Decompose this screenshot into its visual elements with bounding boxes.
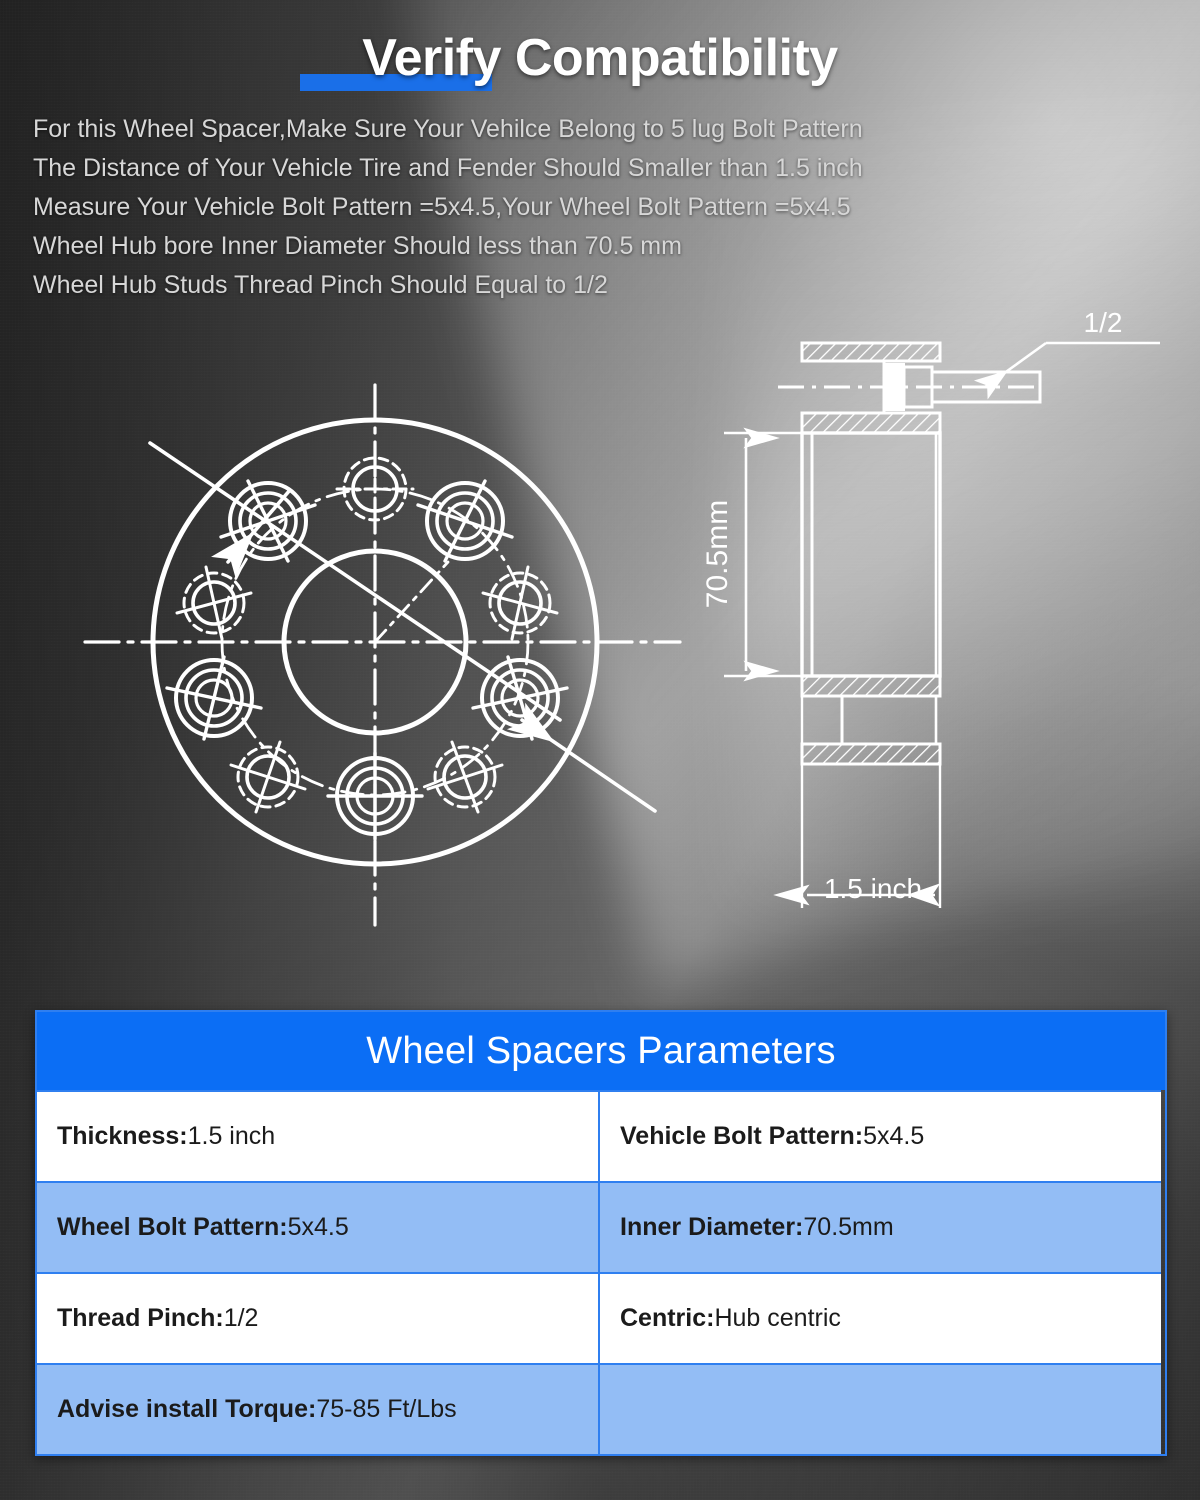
cell-value: 70.5mm (803, 1213, 893, 1242)
table-row: Wheel Bolt Pattern:5x4.5 Inner Diameter:… (37, 1181, 1165, 1272)
table-row: Advise install Torque: 75-85 Ft/Lbs (37, 1363, 1165, 1454)
cell-key: Thickness: (57, 1122, 188, 1151)
table-cell-centric: Centric:Hub centric (600, 1272, 1161, 1363)
title-wrapper: Verify Compatibility (0, 0, 1200, 86)
spec-line: Measure Your Vehicle Bolt Pattern =5x4.5… (33, 188, 1033, 227)
bolt-hole (177, 567, 251, 639)
table-row: Thread Pinch:1/2 Centric:Hub centric (37, 1272, 1165, 1363)
header-section: Verify Compatibility For this Wheel Spac… (0, 0, 1200, 86)
dimension-label-inner-diameter: 70.5mm (701, 500, 734, 608)
cell-value: 1.5 inch (188, 1122, 276, 1151)
cell-key: Vehicle Bolt Pattern: (620, 1122, 863, 1151)
spacer-body-outline (802, 433, 940, 676)
table-header: Wheel Spacers Parameters (37, 1012, 1165, 1090)
table-title: Wheel Spacers Parameters (366, 1030, 835, 1073)
lower-flange-hatch-top (802, 676, 940, 696)
bolt-hole (337, 451, 413, 527)
cell-key: Wheel Bolt Pattern: (57, 1213, 288, 1242)
lower-flange-hatch-bottom (802, 744, 940, 764)
upper-flange-hatch-top (802, 343, 940, 361)
drawing-canvas: 70.5mm 1.5 inch 1/2 (0, 300, 1200, 980)
dimension-label-thickness: 1.5 inch (824, 873, 922, 904)
table-cell-thread-pinch: Thread Pinch:1/2 (37, 1272, 600, 1363)
spec-line: For this Wheel Spacer,Make Sure Your Veh… (33, 110, 1033, 149)
table-cell-empty (600, 1363, 1161, 1454)
lower-bore-cavity (842, 696, 936, 744)
stud-head (884, 364, 904, 410)
cell-value: 5x4.5 (288, 1213, 349, 1242)
cell-key: Thread Pinch: (57, 1304, 224, 1333)
spec-line: Wheel Hub Studs Thread Pinch Should Equa… (33, 266, 1033, 305)
bolt-hole (483, 567, 557, 639)
dimension-label-thread-pinch: 1/2 (1084, 307, 1123, 338)
spec-line: Wheel Hub bore Inner Diameter Should les… (33, 227, 1033, 266)
cell-key: Centric: (620, 1304, 714, 1333)
compatibility-requirements-list: For this Wheel Spacer,Make Sure Your Veh… (33, 110, 1033, 305)
page-title: Verify Compatibility (0, 28, 1200, 88)
cell-value: 75-85 Ft/Lbs (316, 1395, 456, 1424)
table-cell-inner-diameter: Inner Diameter:70.5mm (600, 1181, 1161, 1272)
cell-value: 1/2 (224, 1304, 259, 1333)
table-cell-vehicle-bolt-pattern: Vehicle Bolt Pattern:5x4.5 (600, 1090, 1161, 1181)
table-cell-thickness: Thickness:1.5 inch (37, 1090, 600, 1181)
table-cell-wheel-bolt-pattern: Wheel Bolt Pattern:5x4.5 (37, 1181, 600, 1272)
cell-value: Hub centric (714, 1304, 840, 1333)
bolt-hole (328, 753, 422, 839)
cell-value: 5x4.5 (863, 1122, 924, 1151)
wheel-spacer-section-view (724, 343, 1160, 908)
upper-flange-hatch-bottom (802, 413, 940, 433)
callout-leader-line (985, 343, 1046, 387)
cell-key: Inner Diameter: (620, 1213, 803, 1242)
table-row: Thickness:1.5 inch Vehicle Bolt Pattern:… (37, 1090, 1165, 1181)
technical-drawings: 70.5mm 1.5 inch 1/2 (0, 300, 1200, 980)
spec-line: The Distance of Your Vehicle Tire and Fe… (33, 149, 1033, 188)
diameter-leader-arrow-lower (522, 720, 655, 811)
wheel-spacers-parameters-table: Wheel Spacers Parameters Thickness:1.5 i… (35, 1010, 1167, 1456)
lower-cavity-outline (802, 696, 842, 744)
table-cell-install-torque: Advise install Torque: 75-85 Ft/Lbs (37, 1363, 600, 1454)
bolt-hole (428, 742, 502, 812)
cell-key: Advise install Torque: (57, 1395, 316, 1424)
wheel-spacer-front-view (85, 385, 680, 925)
